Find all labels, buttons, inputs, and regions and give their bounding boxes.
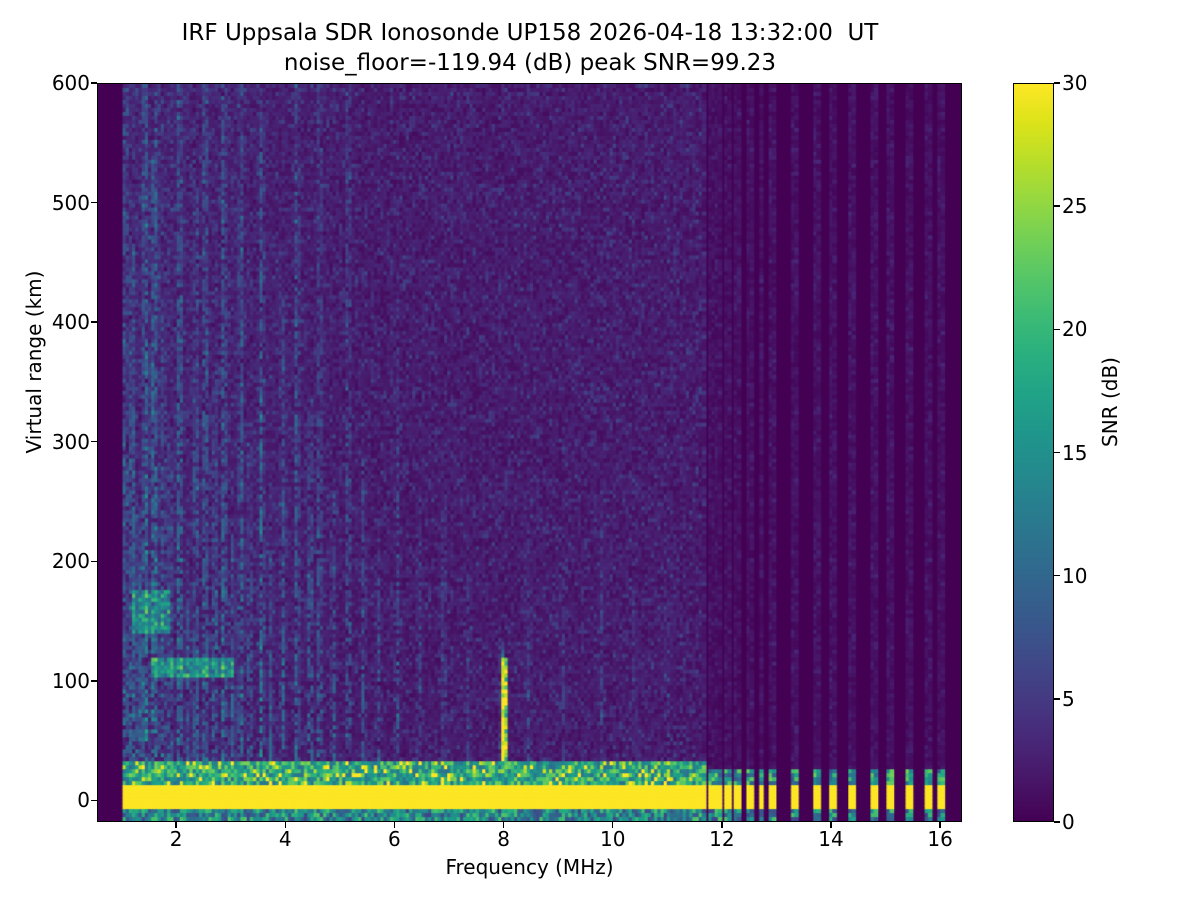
x-tick-mark (394, 822, 395, 828)
y-tick-label: 500 (52, 193, 90, 213)
y-axis-label: Virtual range (km) (22, 232, 46, 492)
heatmap-plot-area (97, 83, 962, 822)
title-line-2: noise_floor=-119.94 (dB) peak SNR=99.23 (0, 48, 1060, 78)
x-tick-label: 16 (910, 828, 970, 850)
x-tick-label: 2 (146, 828, 206, 850)
colorbar-tick-mark (1054, 329, 1060, 330)
y-tick-label: 400 (52, 312, 90, 332)
x-tick-label: 4 (255, 828, 315, 850)
x-tick-label: 10 (583, 828, 643, 850)
x-tick-mark (503, 822, 504, 828)
y-tick-label: 600 (52, 73, 90, 93)
colorbar-tick-label: 5 (1062, 689, 1075, 709)
y-tick-label: 100 (52, 671, 90, 691)
x-tick-mark (285, 822, 286, 828)
colorbar-tick-mark (1054, 452, 1060, 453)
x-tick-mark (175, 822, 176, 828)
x-tick-label: 8 (474, 828, 534, 850)
colorbar-tick-label: 25 (1062, 196, 1087, 216)
x-tick-label: 14 (801, 828, 861, 850)
colorbar-tick-label: 30 (1062, 73, 1087, 93)
y-tick-mark (91, 202, 97, 203)
y-tick-mark (91, 561, 97, 562)
chart-title: IRF Uppsala SDR Ionosonde UP158 2026-04-… (0, 18, 1060, 78)
y-tick-mark (91, 800, 97, 801)
y-tick-label: 300 (52, 432, 90, 452)
y-tick-mark (91, 441, 97, 442)
ionogram-figure: IRF Uppsala SDR Ionosonde UP158 2026-04-… (0, 0, 1200, 900)
x-tick-mark (939, 822, 940, 828)
colorbar-tick-mark (1054, 205, 1060, 206)
colorbar-tick-mark (1054, 698, 1060, 699)
x-axis-label: Frequency (MHz) (97, 855, 962, 879)
x-tick-mark (830, 822, 831, 828)
colorbar-tick-label: 20 (1062, 319, 1087, 339)
y-tick-label: 200 (52, 551, 90, 571)
y-tick-label: 0 (77, 790, 90, 810)
colorbar-tick-label: 10 (1062, 566, 1087, 586)
title-line-1: IRF Uppsala SDR Ionosonde UP158 2026-04-… (0, 18, 1060, 48)
x-tick-label: 6 (364, 828, 424, 850)
y-tick-mark (91, 321, 97, 322)
y-tick-mark (91, 82, 97, 83)
colorbar-gradient (1014, 84, 1053, 821)
colorbar-tick-mark (1054, 821, 1060, 822)
colorbar-tick-label: 15 (1062, 443, 1087, 463)
ionogram-heatmap (98, 84, 961, 821)
colorbar (1013, 83, 1054, 822)
colorbar-label: SNR (dB) (1098, 292, 1122, 512)
x-tick-mark (721, 822, 722, 828)
x-tick-mark (612, 822, 613, 828)
x-tick-label: 12 (692, 828, 752, 850)
colorbar-tick-mark (1054, 575, 1060, 576)
colorbar-tick-mark (1054, 82, 1060, 83)
colorbar-tick-label: 0 (1062, 812, 1075, 832)
y-tick-mark (91, 680, 97, 681)
